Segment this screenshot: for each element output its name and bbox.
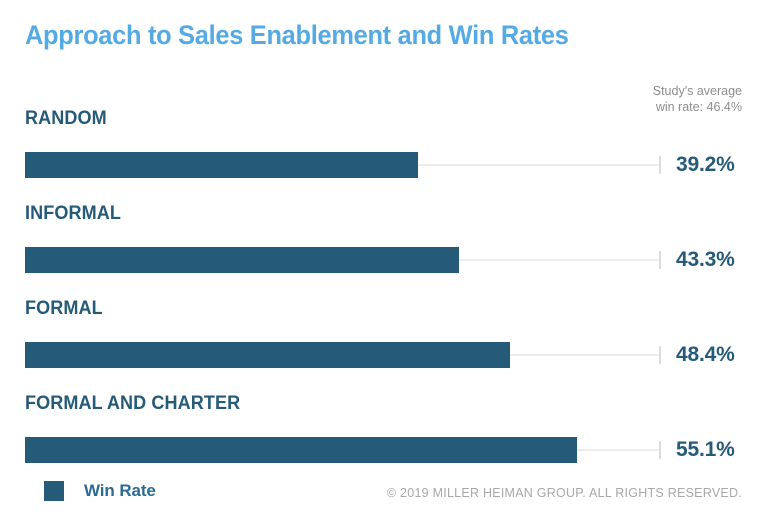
bar-fill	[25, 342, 510, 368]
bar-group: FORMAL AND CHARTER 55.1%	[0, 393, 768, 463]
bar-fill	[25, 247, 459, 273]
category-label: FORMAL AND CHARTER	[25, 393, 240, 415]
page-title: Approach to Sales Enablement and Win Rat…	[25, 20, 569, 51]
bar-track	[25, 437, 661, 463]
bar-fill	[25, 437, 577, 463]
category-label: RANDOM	[25, 108, 107, 130]
bar-group: FORMAL 48.4%	[0, 298, 768, 368]
legend-label-win-rate: Win Rate	[84, 481, 156, 501]
chart-canvas: Approach to Sales Enablement and Win Rat…	[0, 0, 768, 524]
category-label: FORMAL	[25, 298, 103, 320]
bar-value-label: 48.4%	[676, 342, 735, 368]
bar-value-label: 43.3%	[676, 247, 735, 273]
study-average-line-1: Study's average	[653, 84, 742, 100]
axis-tick	[659, 346, 661, 364]
bar-group: RANDOM 39.2%	[0, 108, 768, 178]
bar-fill	[25, 152, 418, 178]
bar-value-label: 55.1%	[676, 437, 735, 463]
bar-group: INFORMAL 43.3%	[0, 203, 768, 273]
axis-tick	[659, 156, 661, 174]
bar-track	[25, 152, 661, 178]
chart-legend: Win Rate	[44, 481, 156, 501]
axis-tick	[659, 441, 661, 459]
bar-track	[25, 247, 661, 273]
bar-value-label: 39.2%	[676, 152, 735, 178]
plot-area: RANDOM 39.2% INFORMAL 43.3% FORMAL	[0, 108, 768, 460]
copyright-notice: © 2019 MILLER HEIMAN GROUP. ALL RIGHTS R…	[387, 486, 742, 500]
axis-tick	[659, 251, 661, 269]
legend-swatch-win-rate	[44, 481, 64, 501]
category-label: INFORMAL	[25, 203, 121, 225]
bar-track	[25, 342, 661, 368]
